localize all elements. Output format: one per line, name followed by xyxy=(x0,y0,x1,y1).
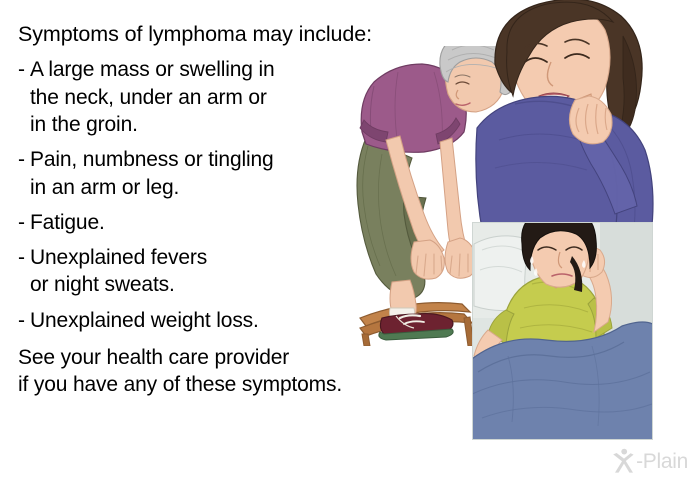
bullet-marker: - xyxy=(18,209,30,236)
page-title: Symptoms of lymphoma may include: xyxy=(18,22,390,47)
symptom-item: - A large mass or swelling in the neck, … xyxy=(18,56,390,138)
illustration-woman-neck-pain xyxy=(455,0,700,235)
x-plain-logo: -Plain xyxy=(611,448,688,474)
closing-statement: See your health care provider if you hav… xyxy=(18,344,390,399)
bullet-marker: - xyxy=(18,307,30,334)
hands xyxy=(411,238,477,279)
symptom-item: - Pain, numbness or tingling in an arm o… xyxy=(18,146,390,201)
logo-wordmark: -Plain xyxy=(636,451,688,472)
content-text: Symptoms of lymphoma may include: - A la… xyxy=(18,22,390,399)
bullet-marker: - xyxy=(18,56,30,138)
illustration-person-night-sweats xyxy=(472,222,653,440)
symptom-item: - Fatigue. xyxy=(18,209,390,236)
hand-on-neck xyxy=(569,96,612,144)
slide-canvas: Symptoms of lymphoma may include: - A la… xyxy=(0,0,700,480)
symptom-text: Unexplained fevers or night sweats. xyxy=(30,244,390,299)
symptom-item: - Unexplained weight loss. xyxy=(18,307,390,334)
symptom-item: - Unexplained fevers or night sweats. xyxy=(18,244,390,299)
symptom-text: Fatigue. xyxy=(30,209,390,236)
x-plain-figure-icon xyxy=(611,448,635,474)
bullet-marker: - xyxy=(18,146,30,201)
symptom-text: A large mass or swelling in the neck, un… xyxy=(30,56,390,138)
bullet-marker: - xyxy=(18,244,30,299)
symptom-text: Unexplained weight loss. xyxy=(30,307,390,334)
symptom-text: Pain, numbness or tingling in an arm or … xyxy=(30,146,390,201)
shoe xyxy=(379,314,453,340)
